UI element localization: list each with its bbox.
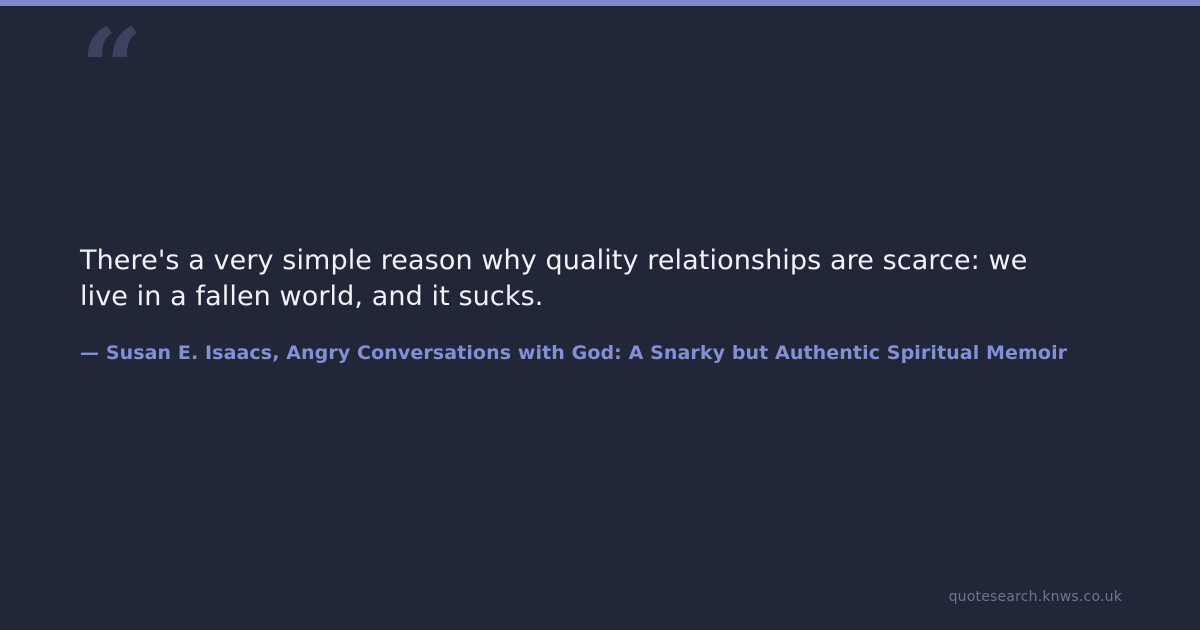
top-accent-bar: [0, 0, 1200, 6]
quote-attribution: — Susan E. Isaacs, Angry Conversations w…: [80, 340, 1067, 366]
quote-body: There's a very simple reason why quality…: [80, 243, 1200, 315]
quote-text: There's a very simple reason why quality…: [80, 243, 1030, 315]
open-quote-icon: “: [80, 14, 141, 124]
quote-card: “ There's a very simple reason why quali…: [0, 0, 1200, 630]
site-watermark: quotesearch.knws.co.uk: [949, 589, 1122, 605]
